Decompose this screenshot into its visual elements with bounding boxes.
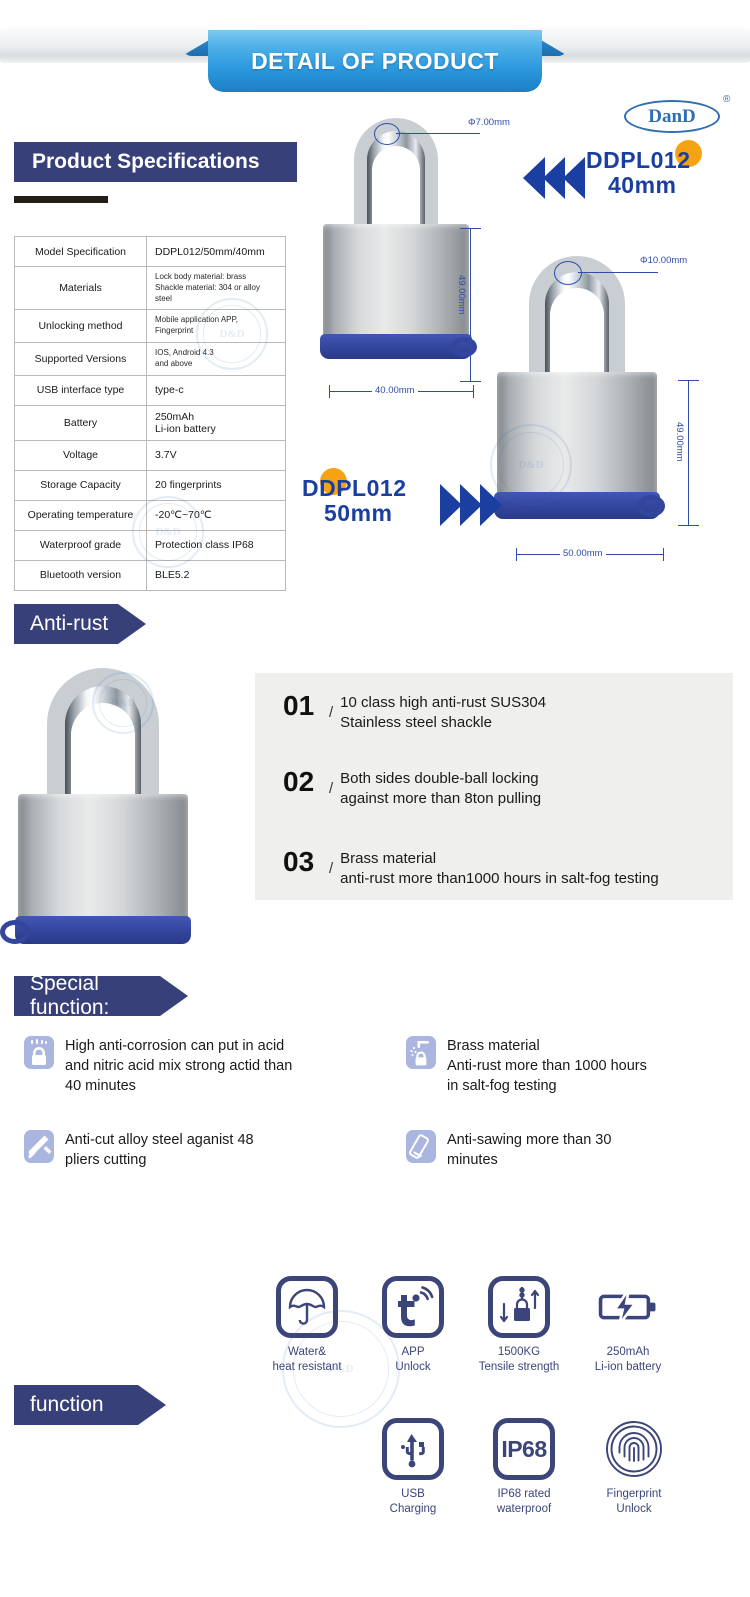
rubber-base-40mm: [320, 334, 472, 359]
antirust-section-tag: Anti-rust: [14, 604, 118, 644]
dim-height-cap-bot-50: [678, 525, 699, 526]
model-size-50: 50mm: [302, 501, 406, 526]
function-item: APPUnlock: [359, 1276, 467, 1375]
function-item-label: APPUnlock: [359, 1345, 467, 1375]
dim-height-line-40: [470, 228, 471, 382]
special-function-tag-label: Special function:: [30, 972, 160, 1020]
function-item: Water&heat resistant: [253, 1276, 361, 1375]
dim-height-40: 49.00mm: [456, 275, 467, 315]
dim-width-cap-right-50: [663, 548, 664, 561]
antirust-item: 02/Both sides double-ball lockingagainst…: [283, 768, 541, 809]
base-tab-40mm: [451, 337, 477, 357]
padlock-40mm-photo: [323, 118, 469, 370]
function-item-label: 250mAhLi-ion battery: [574, 1345, 682, 1375]
page-title: DETAIL OF PRODUCT: [251, 48, 499, 75]
dim-width-cap-left-50: [516, 548, 517, 561]
function-item: 1500KGTensile strength: [465, 1276, 573, 1375]
brand-logo: DanD ®: [624, 92, 736, 138]
table-row: Voltage3.7V: [15, 440, 286, 470]
antirust-item: 03/Brass materialanti-rust more than1000…: [283, 848, 659, 889]
chevron-left-icon-40: [523, 157, 581, 199]
umbrella-icon: [276, 1276, 338, 1338]
lock-body-antirust: [18, 794, 188, 922]
model-name-50: DDPL012: [302, 476, 406, 501]
table-row: Supported VersionsIOS, Android 4.3and ab…: [15, 342, 286, 375]
special-function-text: Brass materialAnti-rust more than 1000 h…: [447, 1036, 647, 1096]
badge-lines-50: DDPL012 50mm: [302, 476, 406, 526]
spec-value: BLE5.2: [147, 560, 286, 590]
antirust-item-text: Brass materialanti-rust more than1000 ho…: [340, 848, 659, 889]
dim-height-cap-bot-40: [460, 381, 481, 382]
dim-shackle-diameter-40: Φ7.00mm: [468, 117, 510, 128]
chevron-right-icon-50: [440, 484, 498, 526]
spec-key: Unlocking method: [15, 310, 147, 343]
badge-lines-40: DDPL012 40mm: [586, 148, 690, 198]
base-tab-antirust: [0, 920, 30, 944]
spec-heading: Product Specifications: [14, 142, 297, 182]
dim-width-50: 50.00mm: [560, 548, 606, 559]
base-tab-50mm: [637, 495, 665, 517]
function-item-label: FingerprintUnlock: [580, 1487, 688, 1517]
dim-leader-40-dia: [396, 133, 480, 134]
dim-height-50: 49.00mm: [674, 422, 685, 462]
dim-width-cap-right-40: [473, 385, 474, 398]
spec-value: Mobile application APP,Fingerprint: [147, 310, 286, 343]
table-row: Operating temperature-20℃~70℃: [15, 500, 286, 530]
spec-value: 20 fingerprints: [147, 470, 286, 500]
antirust-item: 01/10 class high anti-rust SUS304Stainle…: [283, 692, 546, 733]
antirust-slash: /: [329, 780, 333, 797]
spec-key: Supported Versions: [15, 342, 147, 375]
spec-key: Model Specification: [15, 237, 147, 267]
antirust-tag-label: Anti-rust: [30, 612, 108, 636]
function-item-label: IP68 ratedwaterproof: [470, 1487, 578, 1517]
antirust-item-number: 03: [283, 848, 329, 876]
special-function-text: Anti-cut alloy steel aganist 48pliers cu…: [65, 1130, 254, 1170]
special-function-section-tag: Special function:: [14, 976, 160, 1016]
registered-mark: ®: [723, 94, 730, 105]
spec-key: Operating temperature: [15, 500, 147, 530]
antirust-item-text: 10 class high anti-rust SUS304Stainless …: [340, 692, 546, 733]
lock-body-40mm: [323, 224, 469, 338]
spec-value: type-c: [147, 375, 286, 405]
ip68-icon: IP68: [493, 1418, 555, 1480]
dim-shackle-diameter-50: Φ10.00mm: [640, 255, 687, 266]
dim-height-cap-top-40: [460, 228, 481, 229]
special-function-item: High anti-corrosion can put in acidand n…: [24, 1036, 324, 1096]
antirust-item-number: 01: [283, 692, 329, 720]
brand-oval: DanD: [624, 100, 720, 133]
table-row: Unlocking methodMobile application APP,F…: [15, 310, 286, 343]
antirust-slash: /: [329, 860, 333, 877]
padlock-50mm-photo: [497, 256, 657, 546]
spec-value: IOS, Android 4.3and above: [147, 342, 286, 375]
dim-width-cap-left-40: [329, 385, 330, 398]
saw-blade-icon: [406, 1130, 436, 1163]
function-item-label: USBCharging: [359, 1487, 467, 1517]
special-function-item: Brass materialAnti-rust more than 1000 h…: [406, 1036, 706, 1096]
spec-value: Lock body material: brassShackle materia…: [147, 267, 286, 310]
table-row: MaterialsLock body material: brassShackl…: [15, 267, 286, 310]
model-name-40: DDPL012: [586, 148, 690, 173]
dim-height-cap-top-50: [678, 380, 699, 381]
spec-value: -20℃~70℃: [147, 500, 286, 530]
lock-body-50mm: [497, 372, 657, 496]
table-row: USB interface typetype-c: [15, 375, 286, 405]
dim-height-line-50: [688, 380, 689, 526]
spec-value: 250mAhLi-ion battery: [147, 405, 286, 440]
spec-value: 3.7V: [147, 440, 286, 470]
brass-spray-lock-icon: [406, 1036, 436, 1069]
rubber-base-50mm: [494, 492, 660, 519]
function-item: FingerprintUnlock: [580, 1418, 688, 1517]
table-row: Waterproof gradeProtection class IP68: [15, 530, 286, 560]
spec-key: Waterproof grade: [15, 530, 147, 560]
special-function-text: High anti-corrosion can put in acidand n…: [65, 1036, 292, 1096]
spec-heading-label: Product Specifications: [32, 150, 260, 174]
table-row: Battery250mAhLi-ion battery: [15, 405, 286, 440]
function-item: IP68IP68 ratedwaterproof: [470, 1418, 578, 1517]
table-row: Model SpecificationDDPL012/50mm/40mm: [15, 237, 286, 267]
header-ribbon: DETAIL OF PRODUCT: [208, 30, 542, 92]
specifications-table: Model SpecificationDDPL012/50mm/40mmMate…: [14, 236, 286, 591]
special-function-item: Anti-sawing more than 30minutes: [406, 1130, 706, 1170]
dim-leader-50-dia: [578, 272, 658, 273]
tensile-lock-icon: [488, 1276, 550, 1338]
spec-value: Protection class IP68: [147, 530, 286, 560]
model-size-40: 40mm: [586, 173, 690, 198]
spec-key: USB interface type: [15, 375, 147, 405]
antirust-slash: /: [329, 704, 333, 721]
special-function-text: Anti-sawing more than 30minutes: [447, 1130, 611, 1170]
usb-icon: [382, 1418, 444, 1480]
spec-key: Voltage: [15, 440, 147, 470]
antirust-item-number: 02: [283, 768, 329, 796]
model-badge-40mm: DDPL012 40mm: [586, 140, 736, 220]
spec-key: Battery: [15, 405, 147, 440]
spec-heading-underline: [14, 196, 108, 203]
brand-name: DanD: [648, 106, 696, 128]
antirust-item-text: Both sides double-ball lockingagainst mo…: [340, 768, 541, 809]
pliers-cutting-icon: [24, 1130, 54, 1163]
table-row: Bluetooth versionBLE5.2: [15, 560, 286, 590]
function-section-tag: function: [14, 1385, 138, 1425]
table-row: Storage Capacity20 fingerprints: [15, 470, 286, 500]
function-item: 250mAhLi-ion battery: [574, 1276, 682, 1375]
model-badge-50mm: DDPL012 50mm: [302, 468, 452, 548]
ip68-badge-text: IP68: [501, 1436, 546, 1463]
spec-value: DDPL012/50mm/40mm: [147, 237, 286, 267]
spec-key: Materials: [15, 267, 147, 310]
spec-key: Bluetooth version: [15, 560, 147, 590]
spec-key: Storage Capacity: [15, 470, 147, 500]
battery-bolt-icon: [597, 1276, 659, 1338]
fingerprint-icon: [603, 1418, 665, 1480]
padlock-antirust-photo: [18, 668, 188, 940]
rubber-base-antirust: [15, 916, 191, 944]
dim-width-40: 40.00mm: [372, 385, 418, 396]
tuya-app-icon: [382, 1276, 444, 1338]
function-item: USBCharging: [359, 1418, 467, 1517]
function-tag-label: function: [30, 1393, 104, 1417]
function-item-label: Water&heat resistant: [253, 1345, 361, 1375]
special-function-item: Anti-cut alloy steel aganist 48pliers cu…: [24, 1130, 324, 1170]
shackle-antirust: [47, 668, 159, 808]
acid-lock-icon: [24, 1036, 54, 1069]
function-item-label: 1500KGTensile strength: [465, 1345, 573, 1375]
